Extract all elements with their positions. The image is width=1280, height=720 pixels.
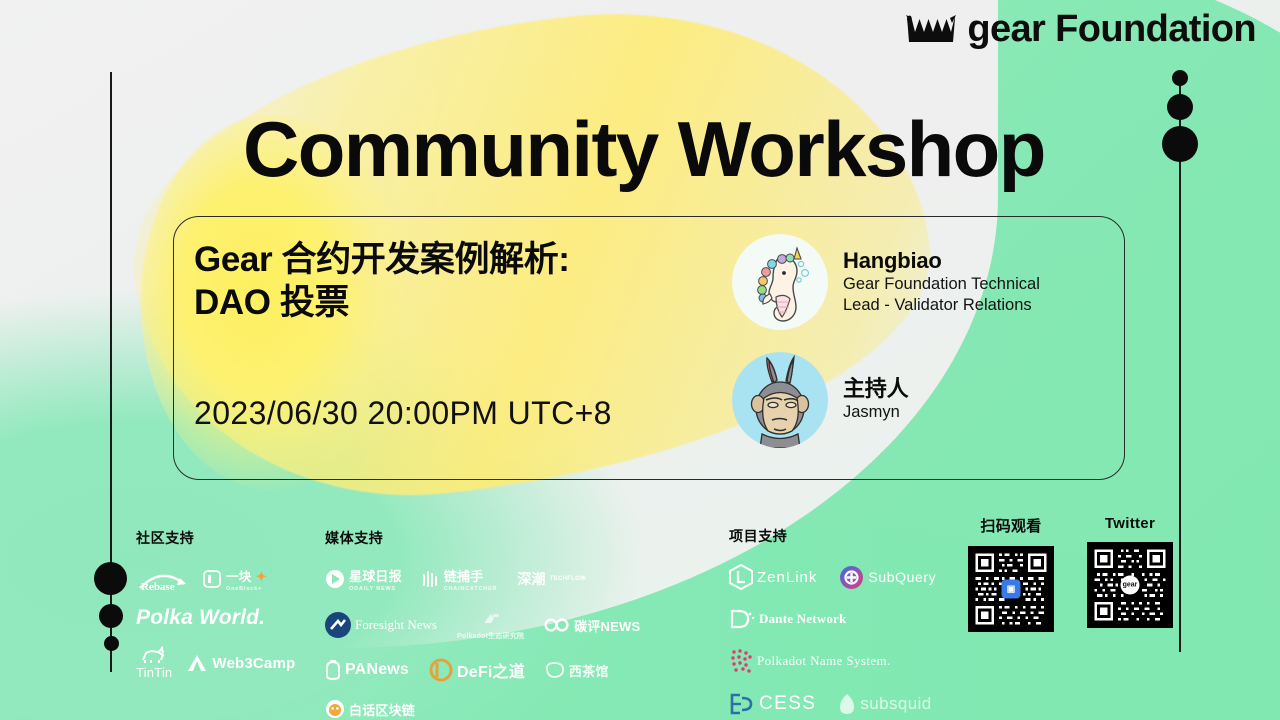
subquery-icon xyxy=(839,565,864,590)
session-heading-block: Gear 合约开发案例解析: DAO 投票 xyxy=(194,239,570,324)
logo-teahouse: 西茶馆 xyxy=(545,661,609,680)
logo-zenlink: ZenLink xyxy=(729,564,817,590)
speaker-name: 主持人 xyxy=(843,376,908,402)
logo-foresight: Foresight News xyxy=(325,612,437,638)
logo-oneblock: 一块 ✦ OneBlock+ xyxy=(202,566,267,592)
baihua-icon xyxy=(325,699,345,719)
gear-crown-icon xyxy=(906,12,956,46)
tintin-dog-icon xyxy=(137,646,171,664)
session-title-line1: Gear 合约开发案例解析: xyxy=(194,239,570,282)
sponsor-section-media: 媒体支持 星球日报 ODAILY NEWS xyxy=(325,528,695,719)
defi-dao-icon xyxy=(429,658,453,682)
sponsor-section-project: 项目支持 ZenLink SubQuery xyxy=(729,526,954,716)
foresight-icon xyxy=(325,612,351,638)
logo-techflow: 深潮 TECHFLOW xyxy=(517,569,586,589)
decorative-dot-medium-right xyxy=(1167,94,1193,120)
logo-pns: Polkadot Name System. xyxy=(729,648,891,674)
section-title: 媒体支持 xyxy=(325,528,695,548)
session-card: Gear 合约开发案例解析: DAO 投票 2023/06/30 20:00PM… xyxy=(173,216,1125,480)
section-title: 社区支持 xyxy=(136,528,316,548)
speaker-role-line1: Jasmyn xyxy=(843,402,908,423)
decorative-dot-medium-left xyxy=(99,604,123,628)
subsquid-icon xyxy=(838,692,856,716)
speaker-entry: Hangbiao Gear Foundation Technical Lead … xyxy=(732,223,1040,341)
logo-label: TinTin xyxy=(136,665,172,680)
cess-icon xyxy=(729,692,755,716)
ape-rabbit-ears-avatar xyxy=(732,352,828,448)
chaincatcher-icon xyxy=(422,569,440,589)
logo-label: 白话区块链 xyxy=(349,700,415,719)
logo-tintin: TinTin xyxy=(136,646,172,680)
speaker-name: Hangbiao xyxy=(843,248,1040,274)
logo-label: 一块 xyxy=(226,570,251,584)
decorative-dot-small-left xyxy=(104,636,119,651)
logo-web3camp: Web3Camp xyxy=(186,653,295,673)
logo-defi-dao: DeFi之道 xyxy=(429,658,525,682)
logo-label: ZenLink xyxy=(757,569,817,586)
qr-label: 扫码观看 xyxy=(980,515,1041,536)
logo-chaincatcher: 链捕手 CHAINCATCHER xyxy=(422,566,498,592)
oneblock-icon xyxy=(202,568,222,590)
logo-label: Polkadot生态研究院 xyxy=(457,631,524,641)
page-title: Community Workshop xyxy=(243,108,1045,191)
logo-subquery: SubQuery xyxy=(839,565,936,590)
svg-text:Rebase: Rebase xyxy=(141,581,175,592)
section-title: 项目支持 xyxy=(729,526,954,546)
teahouse-icon xyxy=(545,661,565,679)
odaily-icon xyxy=(325,569,345,589)
session-title-line2: DAO 投票 xyxy=(194,282,570,325)
qr-center-badge: gear xyxy=(1121,576,1140,595)
zenlink-icon xyxy=(729,564,753,590)
logo-polkadot-research: Polkadot生态研究院 xyxy=(457,609,524,641)
logo-rebase: Rebase xyxy=(136,566,188,592)
brand-name: gear Foundation xyxy=(967,10,1256,48)
speaker-text: 主持人 Jasmyn xyxy=(843,376,908,423)
decorative-dot-large-right xyxy=(1162,126,1198,162)
logo-label: SubQuery xyxy=(868,569,936,585)
brand-logo: gear Foundation xyxy=(906,10,1256,48)
logo-grid: Rebase 一块 ✦ OneBlock+ Polka World. xyxy=(136,566,316,680)
logo-label: 星球日报 xyxy=(349,569,402,584)
logo-baihua: 白话区块链 xyxy=(325,699,415,719)
logo-subsquid: subsquid xyxy=(838,692,931,716)
logo-label: Dante Network xyxy=(759,611,846,627)
logo-label: 链捕手 xyxy=(444,569,484,584)
speaker-entry: 主持人 Jasmyn xyxy=(732,341,1040,459)
logo-label: 西茶馆 xyxy=(569,661,609,680)
poster-canvas: gear Foundation Community Workshop Gear … xyxy=(0,0,1280,720)
logo-label: 深潮 xyxy=(517,569,545,589)
logo-label: 碳评NEWS xyxy=(574,616,640,635)
news-infinity-icon xyxy=(544,617,570,633)
qr-code-image[interactable]: gear xyxy=(1087,542,1173,628)
decorative-dot-small-right xyxy=(1172,70,1188,86)
logo-label: Foresight News xyxy=(355,618,437,632)
logo-sublabel: ODAILY NEWS xyxy=(349,586,402,592)
qr-center-badge: ▣ xyxy=(1002,580,1021,599)
logo-label: CESS xyxy=(759,693,816,715)
logo-panews: PANews xyxy=(325,660,409,680)
speaker-role-line1: Gear Foundation Technical xyxy=(843,274,1040,295)
qr-block-twitter[interactable]: Twitter xyxy=(1087,515,1173,632)
qr-code-image[interactable]: ▣ xyxy=(968,546,1054,632)
logo-label: DeFi之道 xyxy=(457,658,525,682)
logo-odaily: 星球日报 ODAILY NEWS xyxy=(325,566,402,592)
logo-label: Polkadot Name System. xyxy=(757,654,891,668)
logo-label: subsquid xyxy=(860,694,931,714)
qr-label: Twitter xyxy=(1105,515,1155,532)
pns-dots-icon xyxy=(729,648,753,674)
logo-polkaworld: Polka World. xyxy=(136,606,316,630)
logo-sublabel: CHAINCATCHER xyxy=(444,586,498,592)
speaker-list: Hangbiao Gear Foundation Technical Lead … xyxy=(732,223,1040,459)
logo-dante: Dante Network xyxy=(729,608,846,630)
rebase-arc-icon: Rebase xyxy=(136,566,188,592)
logo-label: PANews xyxy=(345,661,409,679)
decorative-dot-large-left xyxy=(94,562,127,595)
logo-label: Web3Camp xyxy=(212,655,295,672)
polkadot-research-icon xyxy=(480,609,502,629)
dante-icon xyxy=(729,608,755,630)
seahorse-unicorn-avatar xyxy=(732,234,828,330)
panews-icon xyxy=(325,660,341,680)
qr-code-area: 扫码观看 xyxy=(968,515,1173,632)
sponsor-section-community: 社区支持 Rebase 一块 ✦ OneBlock+ xyxy=(136,528,316,680)
web3camp-tent-icon xyxy=(186,653,208,673)
speaker-text: Hangbiao Gear Foundation Technical Lead … xyxy=(843,248,1040,316)
logo-sublabel: TECHFLOW xyxy=(550,576,586,582)
logo-grid: ZenLink SubQuery xyxy=(729,564,954,716)
session-datetime: 2023/06/30 20:00PM UTC+8 xyxy=(194,395,612,432)
logo-grid: 星球日报 ODAILY NEWS 链捕手 CHAINCATCHER xyxy=(325,566,695,719)
speaker-role-line2: Lead - Validator Relations xyxy=(843,295,1040,316)
logo-label: Polka World. xyxy=(136,606,265,630)
logo-cess: CESS xyxy=(729,692,816,716)
logo-sublabel: OneBlock+ xyxy=(226,586,267,592)
logo-news-infinity: 碳评NEWS xyxy=(544,616,640,635)
qr-block-watch[interactable]: 扫码观看 xyxy=(968,515,1054,632)
